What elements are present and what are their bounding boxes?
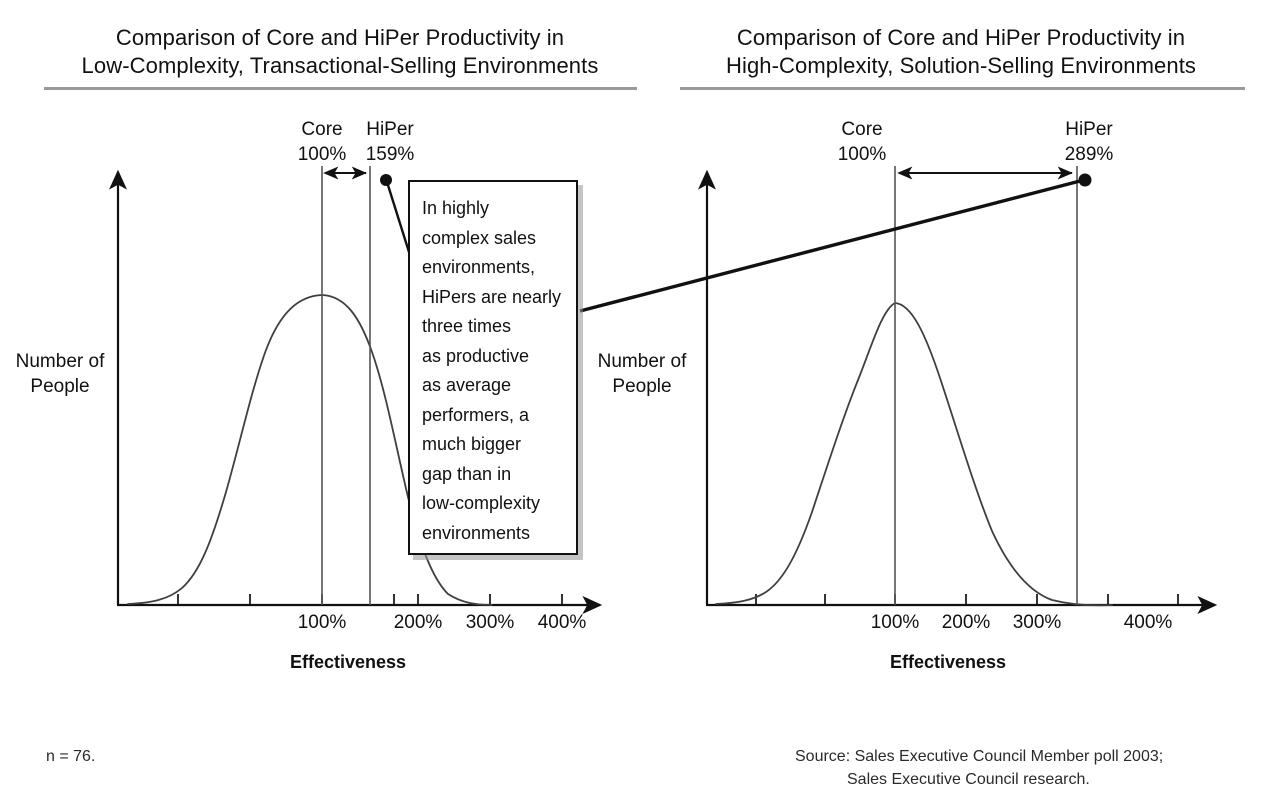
marker-value: 100% (817, 142, 907, 167)
callout-line: performers, a (422, 401, 566, 431)
title-line: Low-Complexity, Transactional-Selling En… (40, 52, 640, 80)
callout-leader-dot-right (1079, 174, 1092, 187)
source-note: Source: Sales Executive Council Member p… (795, 745, 1163, 791)
annotation-callout-box: In highly complex sales environments, Hi… (408, 180, 578, 555)
callout-line: HiPers are nearly (422, 283, 566, 313)
y-axis-label-left: Number of People (0, 349, 124, 399)
title-line: High-Complexity, Solution-Selling Enviro… (672, 52, 1250, 80)
marker-value: 159% (345, 142, 435, 167)
y-axis-label-line: People (0, 374, 124, 399)
figure-canvas: Comparison of Core and HiPer Productivit… (0, 0, 1262, 808)
callout-line: three times (422, 312, 566, 342)
x-tick-label-left-400: 400% (527, 612, 597, 634)
source-line: Source: Sales Executive Council Member p… (795, 745, 1163, 768)
marker-name: HiPer (1044, 117, 1134, 142)
x-tick-label-right-400: 400% (1113, 612, 1183, 634)
sample-size-note: n = 76. (46, 745, 95, 768)
callout-leader-right (580, 181, 1080, 311)
y-axis-label-line: Number of (578, 349, 706, 374)
source-line: Sales Executive Council research. (795, 768, 1163, 791)
marker-value: 289% (1044, 142, 1134, 167)
callout-line: environments, (422, 253, 566, 283)
distribution-curve-right (716, 303, 1112, 605)
callout-line: environments (422, 519, 566, 549)
callout-line: much bigger (422, 430, 566, 460)
panel-title-high-complexity: Comparison of Core and HiPer Productivit… (672, 24, 1250, 80)
x-ticks-right (756, 594, 1178, 605)
title-line: Comparison of Core and HiPer Productivit… (40, 24, 640, 52)
x-tick-label-left-100: 100% (287, 612, 357, 634)
callout-line: complex sales (422, 224, 566, 254)
x-tick-label-right-100: 100% (860, 612, 930, 634)
x-tick-label-right-300: 300% (1002, 612, 1072, 634)
callout-line: In highly (422, 194, 566, 224)
callout-line: as average (422, 371, 566, 401)
x-axis-label-left: Effectiveness (228, 652, 468, 673)
callout-leader-dot-left (380, 174, 392, 186)
callout-line: low-complexity (422, 489, 566, 519)
panel-title-low-complexity: Comparison of Core and HiPer Productivit… (40, 24, 640, 80)
callout-line: gap than in (422, 460, 566, 490)
x-tick-label-left-300: 300% (455, 612, 525, 634)
x-tick-label-left-200: 200% (383, 612, 453, 634)
y-axis-label-line: Number of (0, 349, 124, 374)
x-axis-label-right: Effectiveness (828, 652, 1068, 673)
title-line: Comparison of Core and HiPer Productivit… (672, 24, 1250, 52)
y-axis-label-right: Number of People (578, 349, 706, 399)
y-axis-label-line: People (578, 374, 706, 399)
marker-label-core-right: Core 100% (817, 117, 907, 167)
x-tick-label-right-200: 200% (931, 612, 1001, 634)
marker-name: Core (817, 117, 907, 142)
marker-name: HiPer (345, 117, 435, 142)
callout-line: as productive (422, 342, 566, 372)
marker-label-hiper-left: HiPer 159% (345, 117, 435, 167)
marker-label-hiper-right: HiPer 289% (1044, 117, 1134, 167)
